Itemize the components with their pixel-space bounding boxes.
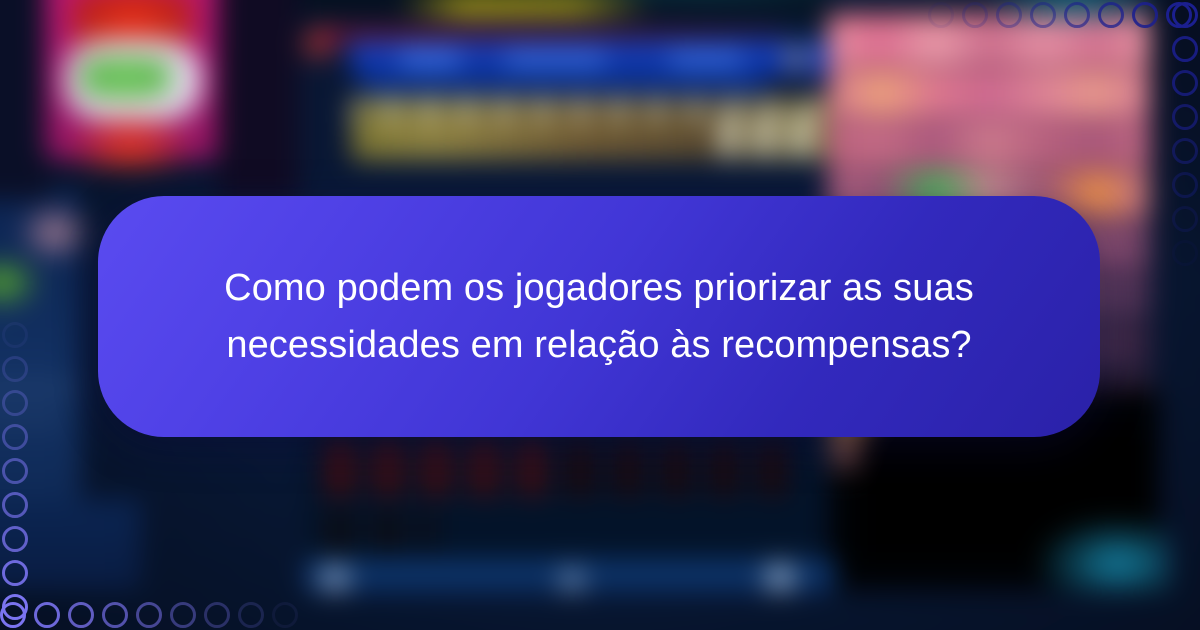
bg-grid-row bbox=[828, 70, 1150, 116]
decorative-circle bbox=[204, 602, 230, 628]
bg-topleft-dark-edge bbox=[0, 0, 50, 200]
decorative-circle bbox=[1172, 138, 1198, 164]
bg-action-bar-segment bbox=[400, 50, 460, 68]
decorative-circle bbox=[1172, 240, 1198, 266]
decorative-circle bbox=[2, 526, 28, 552]
bg-topleft-dark-gap bbox=[218, 0, 298, 200]
decorative-circle bbox=[2, 560, 28, 586]
bg-star-icon bbox=[555, 564, 589, 592]
decorative-circle bbox=[962, 2, 988, 28]
bg-secondary-blue-bar bbox=[360, 78, 765, 96]
decorative-dots-right bbox=[1172, 2, 1198, 274]
question-card: Como podem os jogadores priorizar as sua… bbox=[98, 196, 1100, 437]
decorative-circle bbox=[1172, 172, 1198, 198]
decorative-circle bbox=[2, 594, 28, 620]
decorative-dots-left bbox=[2, 322, 28, 628]
decorative-circle bbox=[1030, 2, 1056, 28]
decorative-circle bbox=[1098, 2, 1124, 28]
decorative-circle bbox=[272, 602, 298, 628]
decorative-dots-top-right bbox=[928, 2, 1200, 28]
bg-action-bar-button bbox=[785, 48, 807, 70]
bg-cyan-glow bbox=[1040, 520, 1170, 592]
bg-grid-row bbox=[828, 120, 1150, 166]
decorative-circle bbox=[928, 2, 954, 28]
bg-action-bar-segment bbox=[505, 50, 605, 68]
bg-card-green-shape bbox=[78, 55, 173, 100]
decorative-circle bbox=[2, 390, 28, 416]
decorative-circle bbox=[1132, 2, 1158, 28]
decorative-circle bbox=[2, 322, 28, 348]
bg-star-icon bbox=[315, 560, 355, 592]
bg-center-olive-banner bbox=[400, 0, 650, 20]
bg-left-pink-glow bbox=[20, 205, 90, 260]
decorative-circle bbox=[68, 602, 94, 628]
decorative-circle bbox=[170, 602, 196, 628]
bg-action-bar-segment bbox=[670, 50, 742, 68]
bg-star-icon bbox=[760, 558, 800, 592]
decorative-circle bbox=[1172, 2, 1198, 28]
decorative-circle bbox=[2, 356, 28, 382]
decorative-dots-bottom-left bbox=[0, 602, 306, 628]
decorative-circle bbox=[1172, 104, 1198, 130]
decorative-circle bbox=[2, 458, 28, 484]
decorative-circle bbox=[136, 602, 162, 628]
question-text: Como podem os jogadores priorizar as sua… bbox=[199, 260, 999, 374]
decorative-circle bbox=[1172, 206, 1198, 232]
image-canvas: Como podem os jogadores priorizar as sua… bbox=[0, 0, 1200, 630]
decorative-circle bbox=[2, 492, 28, 518]
decorative-circle bbox=[2, 424, 28, 450]
decorative-circle bbox=[102, 602, 128, 628]
bg-bottom-slot-row-red bbox=[325, 438, 545, 496]
decorative-circle bbox=[1172, 36, 1198, 62]
bg-center-left-dark bbox=[300, 60, 352, 170]
bg-bottom-slot-row-2 bbox=[325, 512, 435, 552]
decorative-circle bbox=[1064, 2, 1090, 28]
decorative-circle bbox=[238, 602, 264, 628]
bg-left-green-glow bbox=[0, 255, 42, 310]
decorative-circle bbox=[34, 602, 60, 628]
decorative-circle bbox=[1172, 70, 1198, 96]
decorative-circle bbox=[996, 2, 1022, 28]
bg-card-red-base bbox=[70, 110, 190, 170]
